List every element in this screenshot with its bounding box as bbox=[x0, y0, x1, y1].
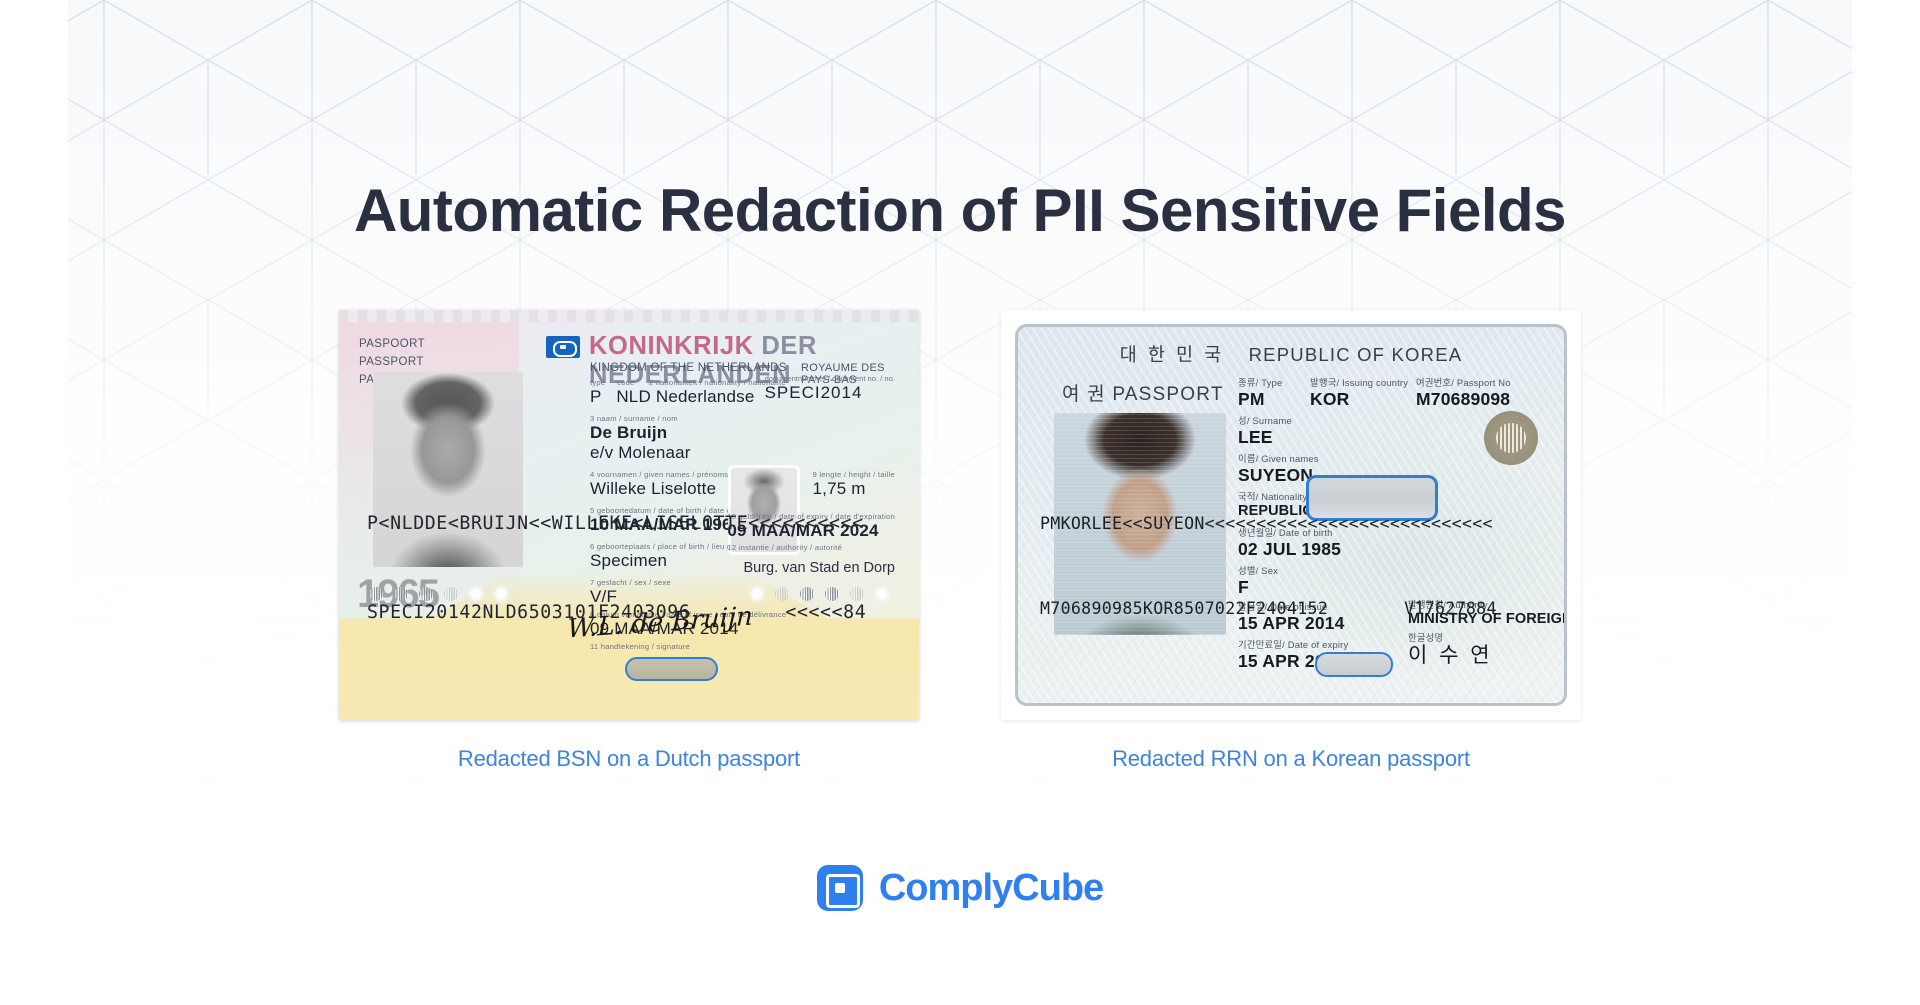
passport-examples-row: PASPOORT PASSPORT PASSEPORT KONINKRIJK D… bbox=[0, 310, 1920, 772]
nl-field-key: type code 2 nationaliteit / nationality … bbox=[590, 378, 786, 387]
korean-passport-card: 대 한 민 국 REPUBLIC OF KOREA 여 권 PASSPORT 종… bbox=[1001, 310, 1581, 772]
left-gutter bbox=[0, 0, 68, 1005]
dutch-passport-card: PASPOORT PASSPORT PASSEPORT KONINKRIJK D… bbox=[339, 310, 919, 772]
kr-field-surname: 성/ Surname LEE bbox=[1238, 413, 1292, 447]
nl-field-document-number: documentnummer / document no. / no. SPEC… bbox=[765, 374, 895, 403]
kr-field-key: 발행국/ Issuing country bbox=[1310, 375, 1408, 389]
page-root: Automatic Redaction of PII Sensitive Fie… bbox=[0, 0, 1920, 1005]
kr-field-value: LEE bbox=[1238, 427, 1292, 447]
nl-field-key: 3 naam / surname / nom bbox=[590, 414, 691, 423]
nl-mrz-line-2-prefix: SPECI20142NLD6503101F2403096 bbox=[367, 602, 690, 623]
complycube-logo-icon bbox=[817, 865, 863, 911]
kr-passport-label: 여 권 PASSPORT bbox=[1062, 379, 1224, 406]
kr-header-ko: 대 한 민 국 bbox=[1120, 344, 1225, 365]
kr-field-type: 종류/ Type PM bbox=[1238, 375, 1282, 409]
kr-field-key: 종류/ Type bbox=[1238, 375, 1282, 389]
kr-field-passport-no: 여권번호/ Passport No M70689098 bbox=[1416, 375, 1511, 409]
kr-field-key: 여권번호/ Passport No bbox=[1416, 375, 1511, 389]
dutch-passport-image: PASPOORT PASSPORT PASSEPORT KONINKRIJK D… bbox=[339, 310, 919, 720]
bottom-gutter bbox=[0, 967, 1920, 1005]
kr-mrz-line-2: M706890985KOR8507022F2404152V17627884 bbox=[1040, 595, 1497, 624]
kr-mrz-line-1: PMKORLEE<<SUYEON<<<<<<<<<<<<<<<<<<<<<<<<… bbox=[1040, 510, 1497, 539]
page-title: Automatic Redaction of PII Sensitive Fie… bbox=[0, 176, 1920, 245]
nl-field-value: P NLD Nederlandse bbox=[590, 387, 786, 407]
kr-header: 대 한 민 국 REPUBLIC OF KOREA bbox=[1018, 341, 1564, 367]
kr-field-key: 성/ Surname bbox=[1238, 413, 1292, 427]
biometric-chip-icon bbox=[546, 336, 580, 358]
kr-document-body: 대 한 민 국 REPUBLIC OF KOREA 여 권 PASSPORT 종… bbox=[1015, 324, 1567, 706]
dutch-passport-caption: Redacted BSN on a Dutch passport bbox=[458, 746, 800, 772]
redaction-box-rrn-mrz bbox=[1315, 652, 1393, 677]
nl-mrz-line-2-suffix: <<<<<84 bbox=[785, 602, 866, 623]
nl-field-value: De Bruijn bbox=[590, 423, 691, 443]
nl-top-strip bbox=[339, 310, 919, 322]
right-gutter bbox=[1852, 0, 1920, 1005]
korean-passport-caption: Redacted RRN on a Korean passport bbox=[1112, 746, 1470, 772]
nl-field-value: SPECI2014 bbox=[765, 383, 895, 403]
nl-country-pink: KONINKRIJK bbox=[589, 332, 754, 360]
redaction-box-bsn bbox=[625, 657, 718, 681]
kr-header-en: REPUBLIC OF KOREA bbox=[1249, 344, 1463, 365]
nl-field-type-row: type code 2 nationaliteit / nationality … bbox=[590, 378, 786, 407]
nl-subtitle-en: KINGDOM OF THE NETHERLANDS bbox=[590, 362, 787, 374]
nl-mrz-line-1: P<NLDDE<BRUIJN<<WILLEKE<LISELOTTE<<<<<<<… bbox=[367, 509, 866, 538]
kr-field-value: M70689098 bbox=[1416, 389, 1511, 409]
nl-mrz-line-2: SPECI20142NLD6503101F2403096<<<<<84 bbox=[367, 598, 866, 627]
korean-passport-image: 대 한 민 국 REPUBLIC OF KOREA 여 권 PASSPORT 종… bbox=[1001, 310, 1581, 720]
brand-name: ComplyCube bbox=[879, 867, 1103, 910]
kr-field-value: KOR bbox=[1310, 389, 1408, 409]
kr-mrz-line-2-prefix: M706890985KOR8507022F2404152 bbox=[1040, 599, 1328, 618]
kr-field-issuing-country: 발행국/ Issuing country KOR bbox=[1310, 375, 1408, 409]
kr-mrz-block: PMKORLEE<<SUYEON<<<<<<<<<<<<<<<<<<<<<<<<… bbox=[1040, 453, 1497, 681]
kr-mrz-line-2-suffix: V17627884 bbox=[1404, 599, 1497, 618]
nl-field-key: documentnummer / document no. / no. bbox=[765, 374, 895, 383]
footer-brand: ComplyCube bbox=[0, 865, 1920, 911]
nl-mrz-block: P<NLDDE<BRUIJN<<WILLEKE<LISELOTTE<<<<<<<… bbox=[367, 450, 866, 686]
kr-field-value: PM bbox=[1238, 389, 1282, 409]
